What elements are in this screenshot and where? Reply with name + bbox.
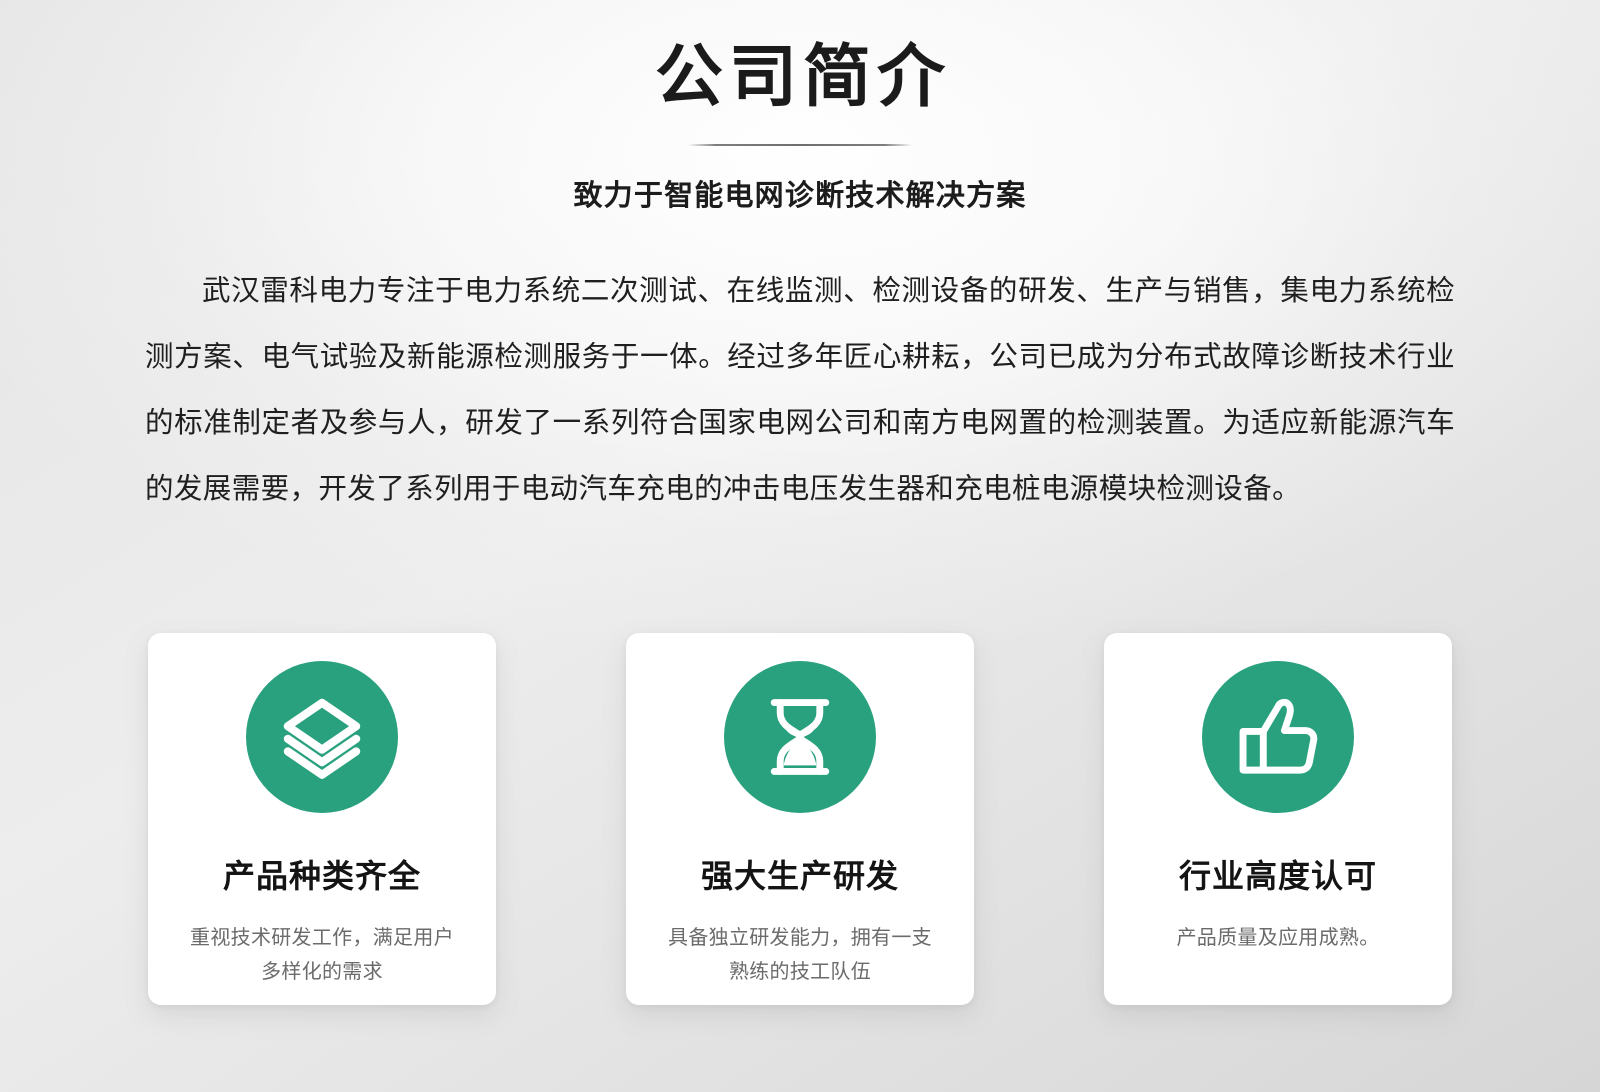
title-divider: [689, 144, 911, 146]
company-intro-paragraph: 武汉雷科电力专注于电力系统二次测试、在线监测、检测设备的研发、生产与销售，集电力…: [145, 258, 1455, 522]
card-description: 产品质量及应用成熟。: [1144, 921, 1412, 955]
card-title: 行业高度认可: [1179, 851, 1377, 897]
card-icon-badge: [724, 661, 876, 813]
card-title: 强大生产研发: [701, 851, 899, 897]
card-icon-badge: [1202, 661, 1354, 813]
hourglass-icon: [757, 694, 843, 780]
page-header: 公司简介 致力于智能电网诊断技术解决方案: [0, 0, 1600, 214]
card-title: 产品种类齐全: [223, 851, 421, 897]
card-icon-badge: [246, 661, 398, 813]
feature-card-industry-recognition[interactable]: 行业高度认可 产品质量及应用成熟。: [1104, 633, 1452, 1005]
thumbs-up-icon: [1232, 691, 1324, 783]
page-subtitle: 致力于智能电网诊断技术解决方案: [0, 172, 1600, 214]
feature-card-rnd-capability[interactable]: 强大生产研发 具备独立研发能力，拥有一支熟练的技工队伍: [626, 633, 974, 1005]
card-description: 重视技术研发工作，满足用户多样化的需求: [188, 921, 456, 989]
company-profile-page: 公司简介 致力于智能电网诊断技术解决方案 武汉雷科电力专注于电力系统二次测试、在…: [0, 0, 1600, 1092]
layers-icon: [277, 692, 367, 782]
feature-card-list: 产品种类齐全 重视技术研发工作，满足用户多样化的需求: [0, 633, 1600, 1005]
feature-card-product-variety[interactable]: 产品种类齐全 重视技术研发工作，满足用户多样化的需求: [148, 633, 496, 1005]
page-title: 公司简介: [0, 38, 1600, 116]
card-description: 具备独立研发能力，拥有一支熟练的技工队伍: [666, 921, 934, 989]
